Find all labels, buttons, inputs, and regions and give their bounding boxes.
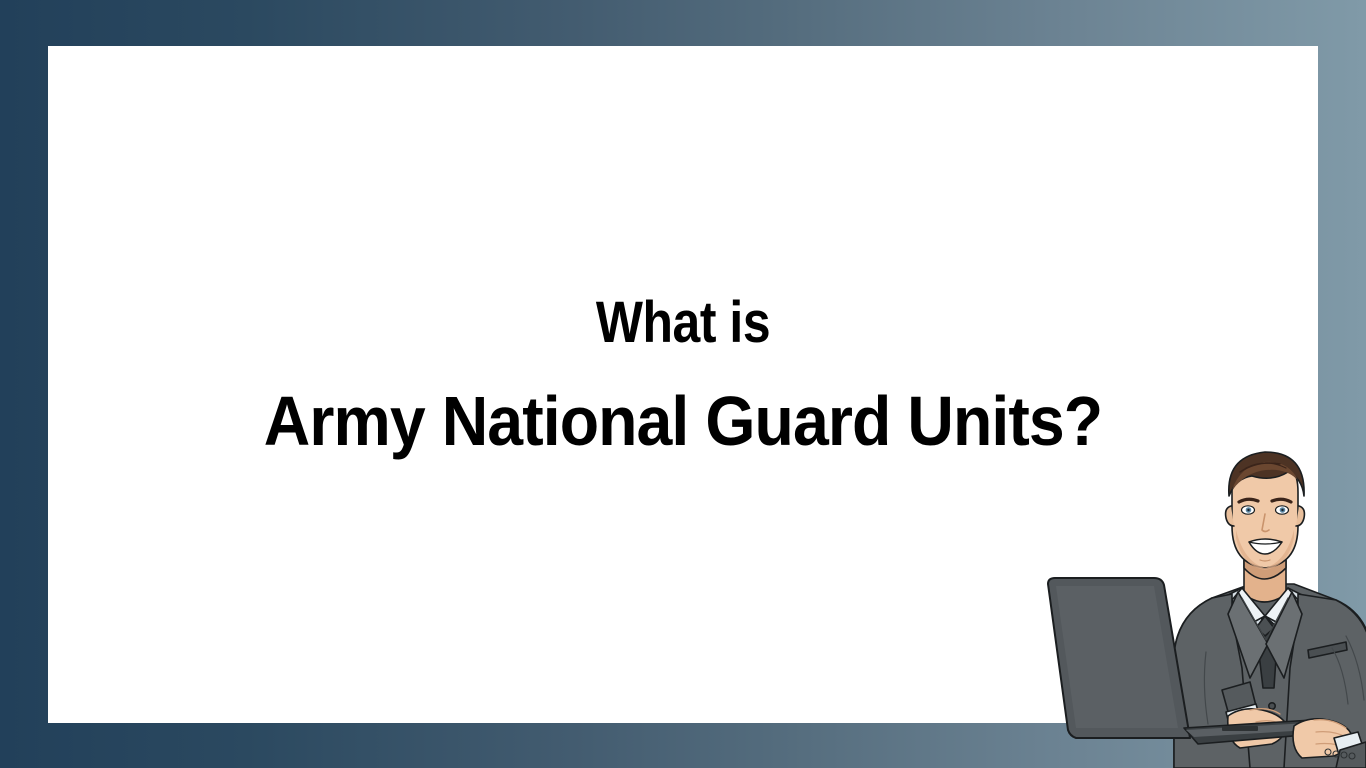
page-title-line-2: Army National Guard Units? (99, 386, 1267, 456)
page-title-line-1: What is (137, 294, 1229, 352)
slide-canvas: What is Army National Guard Units? (0, 0, 1366, 768)
content-card: What is Army National Guard Units? (48, 46, 1318, 723)
